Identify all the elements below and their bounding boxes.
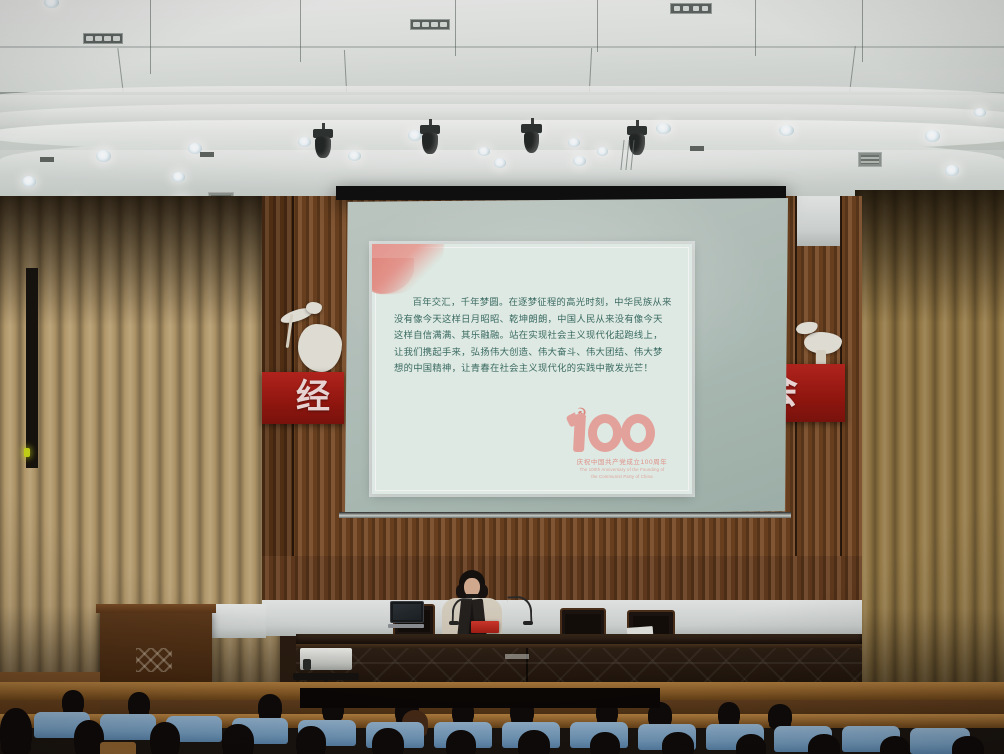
downlight	[22, 176, 36, 187]
downlight	[974, 108, 986, 117]
audience-head	[590, 732, 620, 754]
ceiling-speaker	[200, 152, 214, 157]
audience-head	[518, 730, 550, 754]
emblem-caption-en-1: The 100th Anniversary of the Founding of	[568, 467, 676, 473]
screen-bottom-bar	[339, 512, 791, 518]
emblem-caption-en-2: the Communist Party of China	[568, 474, 676, 480]
downlight	[44, 0, 59, 8]
downlight	[779, 125, 794, 136]
curtain-right	[855, 190, 1004, 700]
downlight	[597, 147, 608, 156]
audience-head	[662, 732, 694, 754]
stage-spotlight	[521, 118, 542, 159]
table-name-strip	[505, 654, 529, 659]
downlight	[656, 123, 671, 134]
projector-lens	[303, 659, 311, 671]
grille-light	[410, 19, 450, 30]
audience-head	[296, 726, 326, 754]
downlight	[478, 147, 490, 156]
audience-head	[768, 704, 792, 728]
downlight	[945, 165, 959, 176]
stage-back-lower-wall	[262, 556, 862, 606]
anniversary-emblem: ☭ 庆祝中国共产党成立100周年 The 100th Anniversary o…	[568, 412, 676, 481]
ceiling-speaker	[40, 157, 54, 162]
audience-seat[interactable]	[100, 714, 156, 740]
downlight	[348, 151, 361, 161]
ceiling-speaker	[690, 146, 704, 151]
lectern-top	[96, 604, 216, 613]
audience-chair-back[interactable]	[100, 742, 136, 754]
stage-spotlight	[627, 120, 647, 160]
ceiling	[0, 0, 1004, 215]
red-nameplate	[471, 621, 499, 633]
downlight	[298, 137, 311, 147]
rear-dark-wall	[300, 688, 660, 708]
banner-left-char: 经	[296, 380, 330, 414]
audience-head	[718, 702, 740, 726]
downlight	[568, 138, 580, 147]
slide-body-text: 百年交汇，千年梦圆。在逐梦征程的高光时刻，中华民族从来没有像今天这样日月昭昭、乾…	[394, 294, 672, 377]
audience-head	[372, 728, 404, 754]
presentation-slide: 百年交汇，千年梦圆。在逐梦征程的高光时刻，中华民族从来没有像今天这样日月昭昭、乾…	[372, 244, 692, 494]
grille-light	[670, 3, 712, 14]
audience-head	[880, 736, 910, 754]
downlight	[925, 130, 940, 142]
audience-head	[808, 734, 840, 754]
audience-head	[736, 734, 766, 754]
auditorium-scene: 经 会 百年交汇，千年梦圆。在逐梦征程的高光时刻，中华民族从来没有像今天这样日月…	[0, 0, 1004, 754]
stage-spotlight	[313, 123, 333, 163]
audience-head	[258, 694, 282, 720]
grille-light	[83, 33, 123, 44]
exit-indicator-light	[24, 448, 30, 457]
emblem-caption-cn: 庆祝中国共产党成立100周年	[568, 456, 676, 466]
wall-white-band	[797, 196, 840, 246]
projection-screen-frame	[336, 186, 786, 200]
downlight	[172, 172, 185, 182]
audience-head	[446, 730, 476, 754]
audience-head	[952, 736, 984, 754]
air-vent	[858, 152, 882, 167]
downlight	[573, 156, 586, 166]
laptop[interactable]	[390, 601, 422, 628]
audience-head	[128, 692, 150, 716]
stage-spotlight	[420, 119, 440, 159]
audience-head	[150, 722, 180, 754]
doorway-gap	[26, 268, 38, 468]
microphone[interactable]	[452, 600, 470, 622]
lectern-emblem	[136, 648, 172, 672]
audience-head	[62, 690, 84, 714]
audience-head	[222, 724, 254, 754]
microphone[interactable]	[508, 598, 530, 622]
red-banner-left: 经	[262, 372, 344, 424]
downlight	[494, 158, 506, 168]
downlight	[96, 150, 111, 162]
audience-head	[0, 708, 32, 754]
